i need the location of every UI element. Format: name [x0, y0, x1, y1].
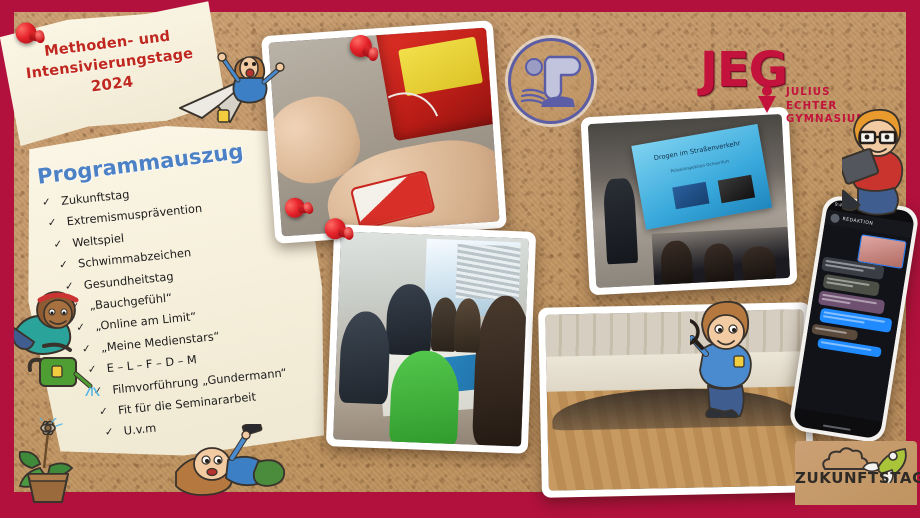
phone-status-time: 9:41 — [834, 203, 845, 210]
cpr-resuscitation-icon — [508, 38, 594, 124]
school-name-line-2: ECHTER — [786, 100, 868, 114]
window-blinds — [455, 244, 521, 300]
weltspiel-classroom-photo — [326, 224, 536, 454]
logo-triangle-shape — [758, 96, 776, 113]
classroom-photo-content — [333, 231, 529, 446]
home-indicator — [823, 424, 851, 430]
hall-photo-content — [545, 309, 807, 490]
logo-dot-shape — [762, 86, 772, 96]
zukunftstag-badge: ZUKUNFTSTAG — [795, 441, 917, 505]
zukunftstag-label: ZUKUNFTSTAG — [795, 469, 914, 487]
program-item-label: Zukunftstag — [60, 187, 130, 208]
program-item-label: Weltspiel — [72, 231, 125, 250]
program-item-label: U.v.m — [123, 421, 157, 438]
police-presentation-photo: Drogen im Straßenverkehr Polizeiinspekti… — [580, 107, 797, 296]
school-name-line-1: JULIUS — [786, 86, 868, 100]
cpr-training-photo — [261, 20, 507, 244]
presentation-photo-content: Drogen im Straßenverkehr Polizeiinspekti… — [588, 114, 790, 288]
chat-avatar-icon — [830, 213, 840, 223]
chat-app-title: REDAKTION — [842, 217, 873, 227]
poster-title: Methoden- und Intensivierungstage 2024 — [0, 21, 222, 107]
school-logo: JEG JULIUS ECHTER GYMNASIUM — [700, 46, 880, 128]
school-logo-name: JULIUS ECHTER GYMNASIUM — [786, 86, 868, 127]
student-green-shirt — [389, 350, 460, 447]
police-officer — [602, 178, 637, 265]
assembly-hall-photo — [538, 302, 814, 498]
poster-canvas: Methoden- und Intensivierungstage 2024 P… — [0, 0, 920, 518]
school-name-line-3: GYMNASIUM — [786, 113, 868, 127]
cpr-photo-content — [268, 28, 499, 237]
chat-bubble[interactable] — [817, 338, 882, 358]
